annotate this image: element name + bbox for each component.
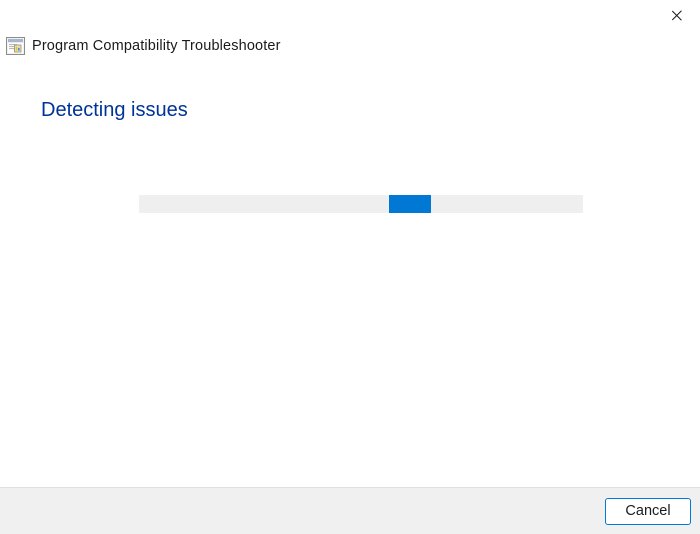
close-button[interactable] [654,0,700,30]
troubleshooter-dialog: Program Compatibility Troubleshooter Det… [0,0,700,534]
dialog-body: Detecting issues [0,60,700,487]
progress-indicator [389,195,431,213]
app-title: Program Compatibility Troubleshooter [32,37,281,55]
dialog-footer: Cancel [0,487,700,534]
app-header: Program Compatibility Troubleshooter [6,34,281,58]
progress-track [139,195,583,213]
title-bar [0,0,700,30]
cancel-button[interactable]: Cancel [605,498,691,525]
troubleshooter-window-icon [6,37,25,55]
close-icon [671,9,684,22]
page-title: Detecting issues [41,97,188,123]
progress-bar [139,195,583,213]
